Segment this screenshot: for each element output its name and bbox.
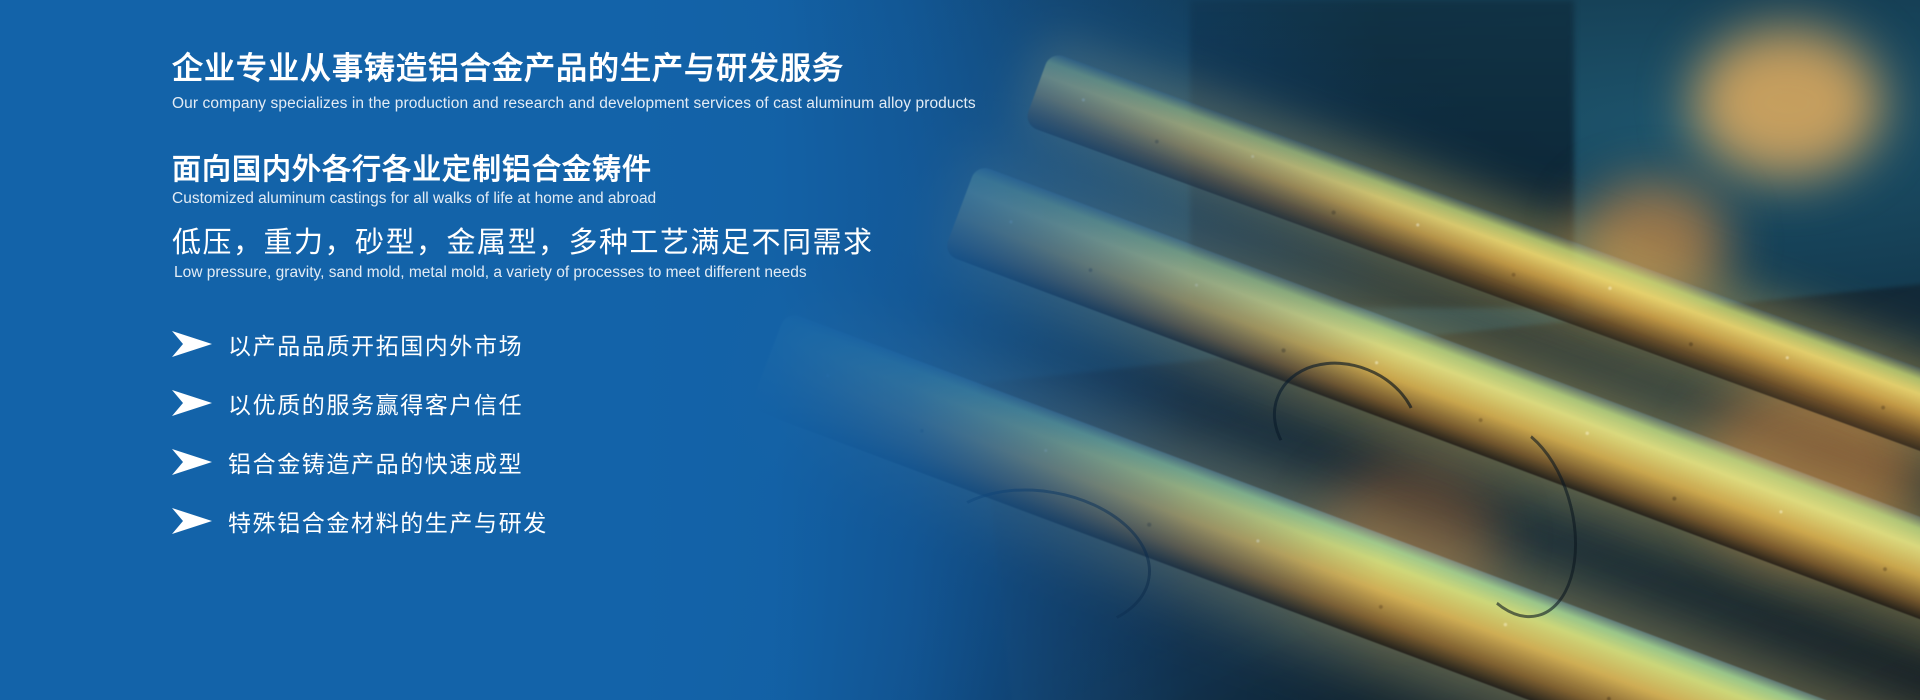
list-item[interactable]: 特殊铝合金材料的生产与研发: [172, 495, 792, 547]
arrow-right-icon: [172, 508, 212, 534]
heading-2-en: Customized aluminum castings for all wal…: [172, 190, 656, 208]
heading-1-cn: 企业专业从事铸造铝合金产品的生产与研发服务: [172, 50, 844, 87]
list-item[interactable]: 以优质的服务赢得客户信任: [172, 377, 792, 429]
blue-solid-margin: [0, 0, 170, 700]
list-item[interactable]: 以产品品质开拓国内外市场: [172, 318, 792, 370]
banner-content: 企业专业从事铸造铝合金产品的生产与研发服务 Our company specia…: [172, 0, 1172, 700]
heading-3-cn: 低压，重力，砂型，金属型，多种工艺满足不同需求: [172, 219, 874, 261]
heading-3-en: Low pressure, gravity, sand mold, metal …: [174, 264, 807, 282]
list-item[interactable]: 铝合金铸造产品的快速成型: [172, 436, 792, 488]
hero-banner: 企业专业从事铸造铝合金产品的生产与研发服务 Our company specia…: [0, 0, 1920, 700]
arrow-right-icon: [172, 390, 212, 416]
list-item-label: 特殊铝合金材料的生产与研发: [228, 504, 548, 538]
list-item-label: 以产品品质开拓国内外市场: [228, 327, 523, 361]
heading-2-cn: 面向国内外各行各业定制铝合金铸件: [172, 146, 652, 188]
feature-bullet-list: 以产品品质开拓国内外市场 以优质的服务赢得客户信任 铝合金铸造产品的快速成型: [172, 318, 792, 554]
heading-1-en: Our company specializes in the productio…: [172, 95, 976, 113]
list-item-label: 以优质的服务赢得客户信任: [228, 386, 523, 420]
list-item-label: 铝合金铸造产品的快速成型: [228, 445, 523, 479]
arrow-right-icon: [172, 449, 212, 475]
arrow-right-icon: [172, 331, 212, 357]
